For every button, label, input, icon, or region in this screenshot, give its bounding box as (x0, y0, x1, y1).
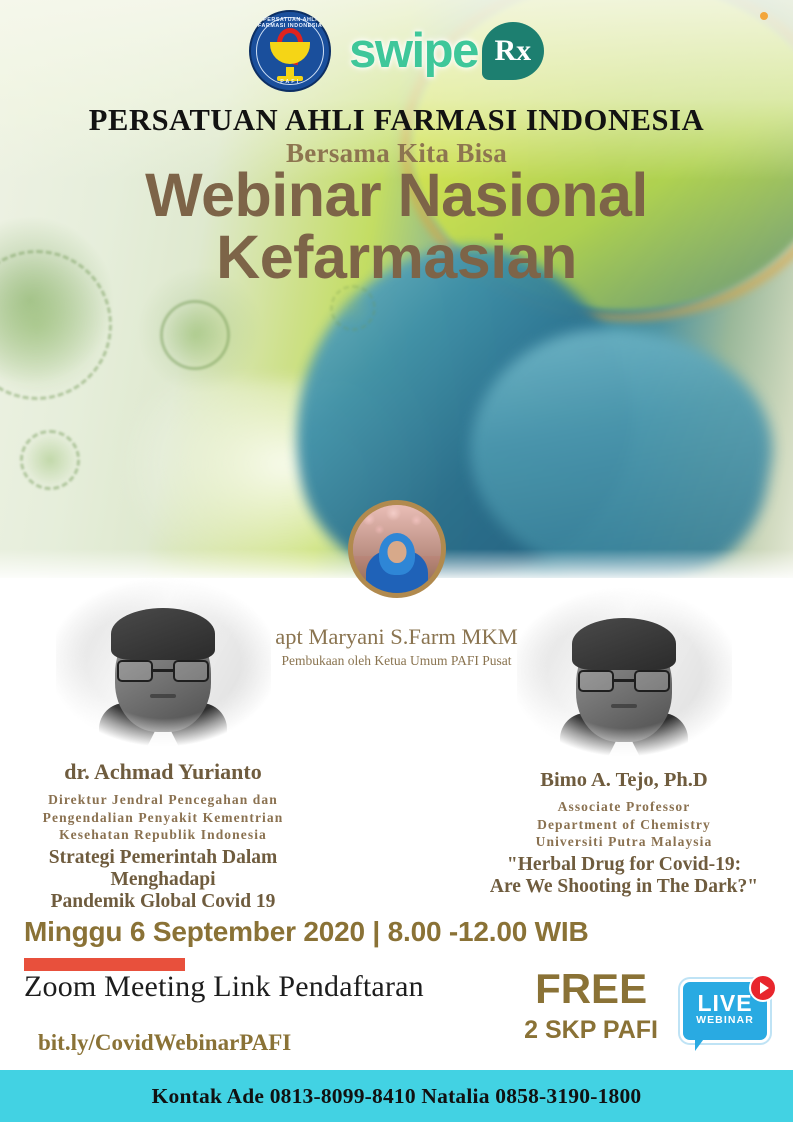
brush-mask (56, 578, 271, 753)
live-webinar-badge-icon: LIVE WEBINAR (679, 978, 775, 1052)
virus-particle-icon (160, 300, 230, 370)
eyeglasses-icon (578, 670, 670, 692)
topic-line-2: Are We Shooting in The Dark?" (459, 876, 789, 898)
pafi-logo-icon: PERSATUAN AHLI FARMASI INDONESIA PAFI (249, 10, 331, 92)
lens-right (634, 670, 670, 692)
live-badge-tail (695, 1036, 706, 1051)
swipe-wordmark: swipe (349, 23, 478, 79)
photo-mouth (611, 704, 637, 708)
glasses-bridge (153, 669, 173, 672)
page-title: Webinar Nasional Kefarmasian (0, 164, 793, 288)
registration-link[interactable]: bit.ly/CovidWebinarPAFI (38, 1030, 291, 1056)
speaker-left-topic: Strategi Pemerintah Dalam Menghadapi Pan… (0, 847, 328, 913)
swiperx-logo: swipe Rx (349, 22, 544, 80)
speaker-right-topic: "Herbal Drug for Covid-19: Are We Shooti… (459, 854, 789, 898)
topic-line-1: Strategi Pemerintah Dalam Menghadapi (0, 847, 328, 891)
contact-text: Kontak Ade 0813-8099-8410 Natalia 0858-3… (152, 1084, 642, 1109)
affiliation-line-2: Pengendalian Penyakit Kementrian (0, 809, 328, 827)
photo-hair (572, 618, 676, 670)
affiliation-line-1: Associate Professor (459, 798, 789, 816)
webinar-label: WEBINAR (679, 1014, 771, 1026)
photo-mouth (150, 694, 176, 698)
topic-line-1: "Herbal Drug for Covid-19: (459, 854, 789, 876)
topic-line-2: Pandemik Global Covid 19 (0, 891, 328, 913)
affiliation-line-2: Department of Chemistry (459, 816, 789, 834)
glasses-bridge (614, 679, 634, 682)
virus-particle-icon (330, 285, 376, 331)
brush-mask (517, 588, 732, 763)
speaker-left-photo (56, 578, 271, 753)
lens-right (173, 660, 209, 682)
rx-label: Rx (494, 34, 531, 68)
zoom-registration-label: Zoom Meeting Link Pendaftaran (24, 970, 424, 1004)
lens-left (578, 670, 614, 692)
avatar-face (387, 541, 406, 563)
avatar (348, 500, 446, 598)
skp-label: 2 SKP PAFI (524, 1016, 658, 1045)
affiliation-line-3: Universiti Putra Malaysia (459, 833, 789, 851)
affiliation-line-3: Kesehatan Republik Indonesia (0, 826, 328, 844)
logo-bar: PERSATUAN AHLI FARMASI INDONESIA PAFI sw… (0, 8, 793, 94)
speaker-right-name: Bimo A. Tejo, Ph.D (459, 769, 789, 792)
lens-left (117, 660, 153, 682)
speaker-right: Bimo A. Tejo, Ph.D Associate Professor D… (459, 588, 789, 898)
main-title-line-1: Webinar Nasional (0, 164, 793, 226)
speaker-left-affiliation: Direktur Jendral Pencegahan dan Pengenda… (0, 791, 328, 844)
speaker-right-photo (517, 588, 732, 763)
event-datetime: Minggu 6 September 2020 | 8.00 -12.00 WI… (24, 916, 589, 948)
eyeglasses-icon (117, 660, 209, 682)
main-title-line-2: Kefarmasian (0, 226, 793, 288)
affiliation-line-1: Direktur Jendral Pencegahan dan (0, 791, 328, 809)
contact-footer: Kontak Ade 0813-8099-8410 Natalia 0858-3… (0, 1070, 793, 1122)
photo-hair (111, 608, 215, 660)
organization-title: PERSATUAN AHLI FARMASI INDONESIA (0, 103, 793, 138)
free-badge: FREE 2 SKP PAFI (524, 968, 658, 1045)
virus-particle-icon (20, 430, 80, 490)
swipe-i-dot-icon (760, 12, 768, 20)
free-label: FREE (524, 968, 658, 1010)
speaker-left-name: dr. Achmad Yurianto (0, 759, 328, 785)
speaker-left: dr. Achmad Yurianto Direktur Jendral Pen… (0, 578, 328, 913)
speaker-right-affiliation: Associate Professor Department of Chemis… (459, 798, 789, 851)
rx-speech-bubble-icon: Rx (482, 22, 544, 80)
play-button-icon (749, 974, 777, 1002)
pafi-logo-bottom-text: PAFI (251, 79, 329, 85)
